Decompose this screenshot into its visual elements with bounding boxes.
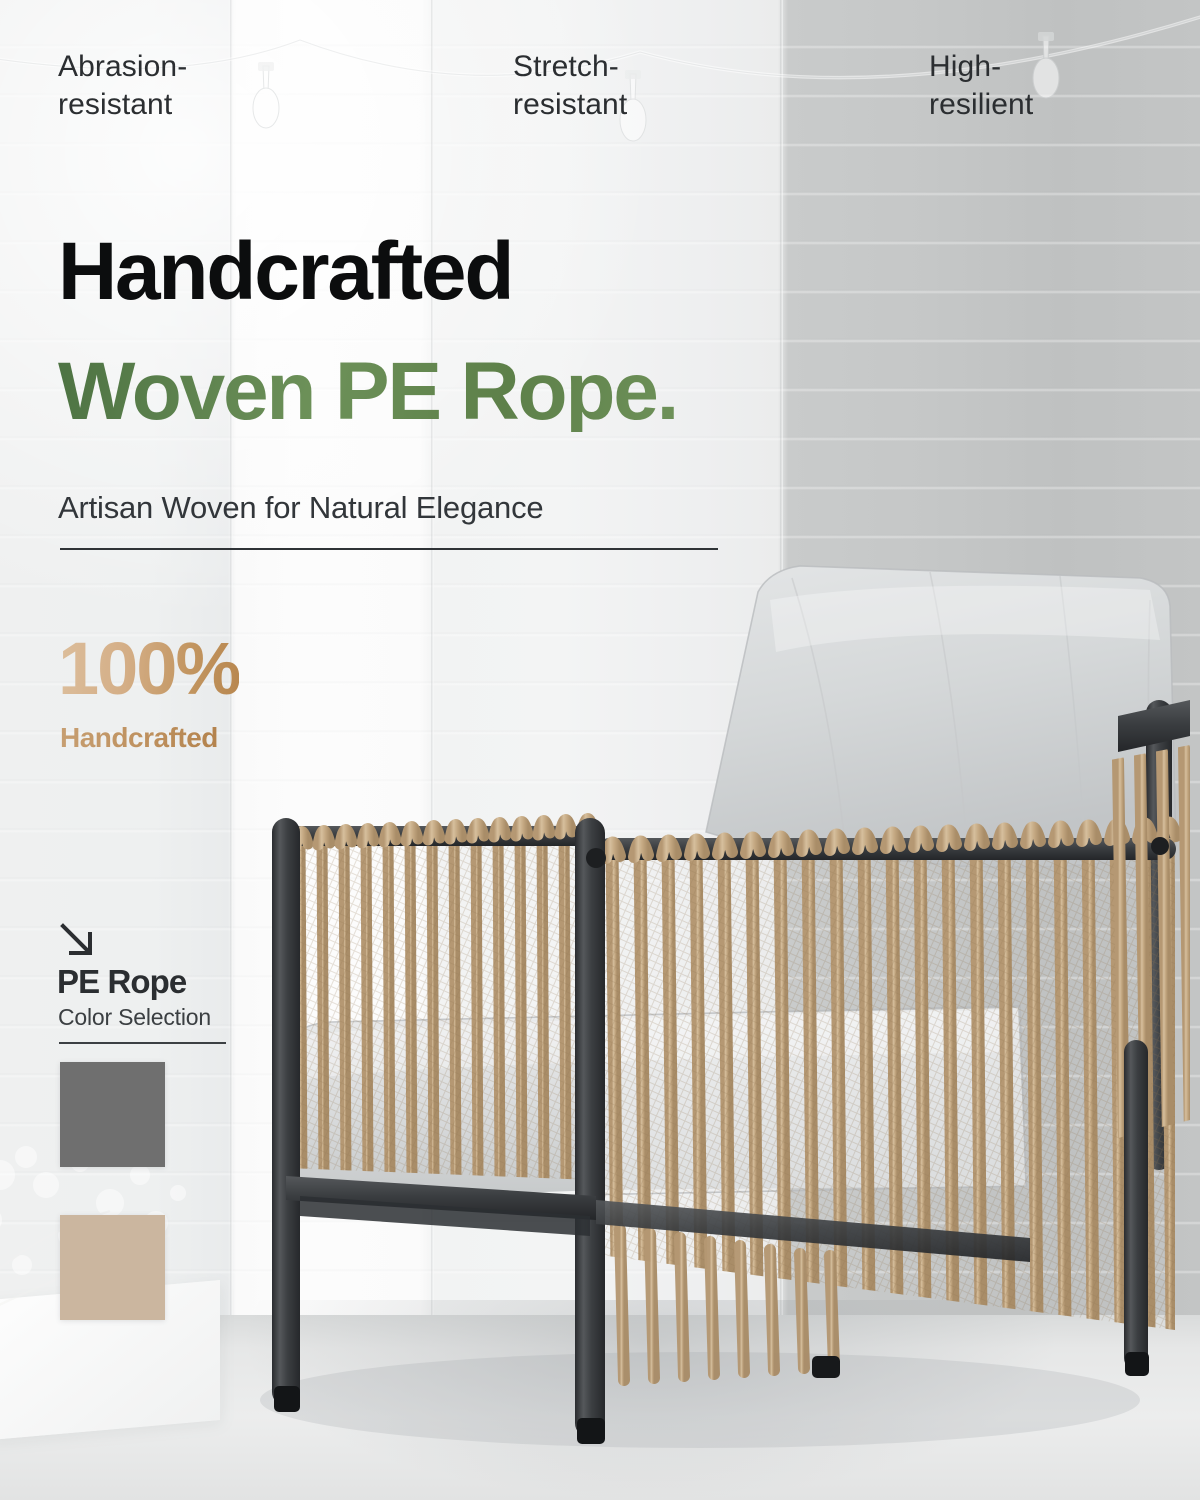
headline-subtitle: Artisan Woven for Natural Elegance [58, 490, 543, 526]
foot [1125, 1352, 1149, 1376]
feature-label-resilient: High- resilient [929, 48, 1033, 125]
front-left-post [272, 818, 300, 1406]
rear-right-post [1124, 1040, 1148, 1370]
product-marketing-image: Abrasion- resistant Stretch- resistant H… [0, 0, 1200, 1500]
center-post [575, 818, 605, 1438]
headline-line-1: Handcrafted [58, 232, 512, 312]
left-arm-rope-loops [290, 818, 595, 846]
feature-label-stretch: Stretch- resistant [513, 48, 627, 125]
back-cushion [706, 566, 1176, 867]
color-selection-title: PE Rope [57, 963, 186, 1001]
color-swatch-beige-tan[interactable] [60, 1215, 165, 1320]
foot [274, 1386, 300, 1412]
foot [812, 1356, 840, 1378]
handcrafted-percent-label: Handcrafted [60, 722, 218, 754]
arrow-down-right-icon [55, 918, 103, 966]
headline-divider [60, 548, 718, 550]
color-swatch-dark-gray[interactable] [60, 1062, 165, 1167]
color-selection-subtitle: Color Selection [58, 1004, 211, 1031]
handcrafted-percent-value: 100% [58, 632, 239, 706]
headline-line-2: Woven PE Rope. [58, 352, 677, 432]
color-selection-divider [59, 1042, 226, 1044]
left-arm-rope-panel [285, 820, 600, 1190]
foot [577, 1418, 605, 1444]
feature-label-abrasion: Abrasion- resistant [58, 48, 187, 125]
